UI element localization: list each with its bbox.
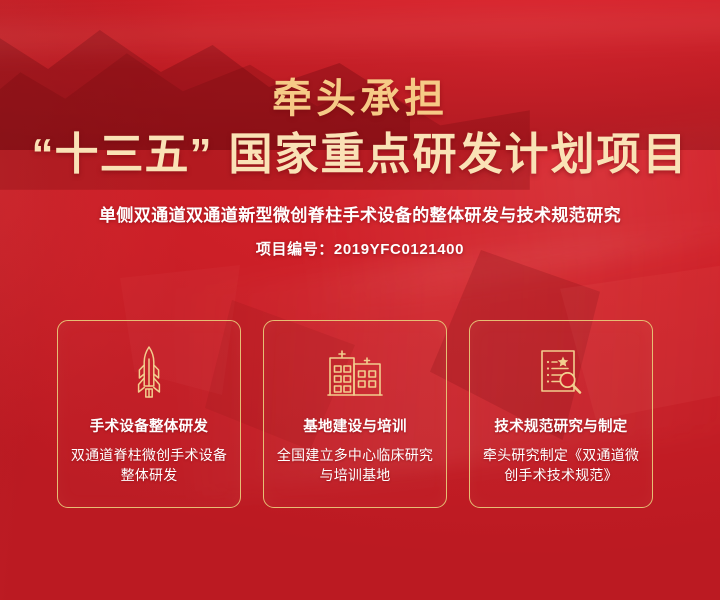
rocket-icon [132, 345, 166, 401]
feature-card[interactable]: 手术设备整体研发 双通道脊柱微创手术设备整体研发 [57, 320, 241, 508]
project-number: 项目编号：2019YFC0121400 [0, 238, 720, 259]
card-description: 全国建立多中心临床研究与培训基地 [274, 445, 436, 486]
feature-card[interactable]: 基地建设与培训 全国建立多中心临床研究与培训基地 [263, 320, 447, 508]
card-description: 双通道脊柱微创手术设备整体研发 [68, 445, 230, 486]
headline-quoted-term: “十三五” [32, 130, 213, 179]
feature-card-list: 手术设备整体研发 双通道脊柱微创手术设备整体研发 [57, 320, 653, 508]
headline-line-1: 牵头承担 [0, 78, 720, 120]
feature-card[interactable]: 技术规范研究与制定 牵头研究制定《双通道微创手术技术规范》 [469, 320, 653, 508]
headline-block: 牵头承担 “十三五”国家重点研发计划项目 [0, 0, 720, 179]
card-description: 牵头研究制定《双通道微创手术技术规范》 [480, 445, 642, 486]
headline-program-name: 国家重点研发计划项目 [229, 130, 689, 179]
card-title: 技术规范研究与制定 [494, 415, 627, 436]
poster-content: 牵头承担 “十三五”国家重点研发计划项目 单侧双通道双通道新型微创脊柱手术设备的… [0, 0, 720, 600]
poster-banner: 牵头承担 “十三五”国家重点研发计划项目 单侧双通道双通道新型微创脊柱手术设备的… [0, 0, 720, 600]
headline-line-2: “十三五”国家重点研发计划项目 [0, 130, 720, 179]
card-title: 基地建设与培训 [303, 415, 407, 436]
project-subtitle: 单侧双通道双通道新型微创脊柱手术设备的整体研发与技术规范研究 [0, 201, 720, 226]
card-title: 手术设备整体研发 [90, 415, 208, 436]
hospital-building-icon [327, 345, 383, 401]
document-magnifier-icon [537, 345, 585, 401]
